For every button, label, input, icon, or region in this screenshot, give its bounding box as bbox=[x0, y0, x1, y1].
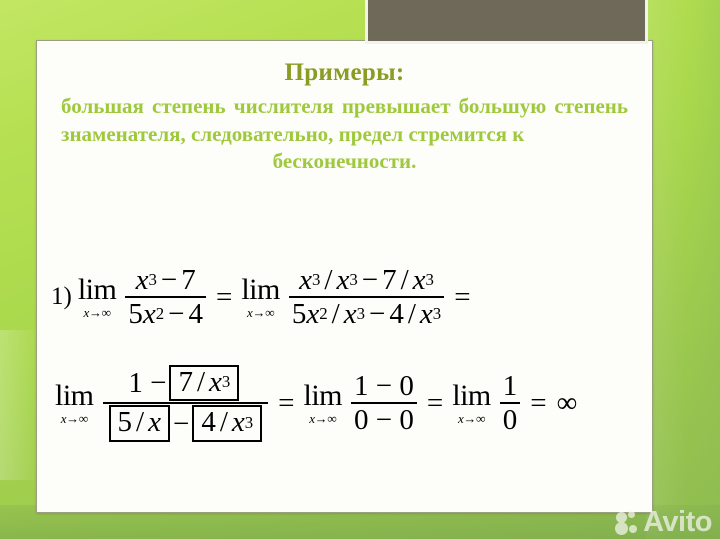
limit-label: lim bbox=[241, 275, 280, 305]
limit-operator-1b: lim x→∞ bbox=[241, 275, 280, 319]
limit-operator-1a: lim x→∞ bbox=[78, 275, 117, 319]
green-frame-sheen-left bbox=[0, 330, 40, 480]
slide-canvas: Примеры: большая степень числителя превы… bbox=[0, 0, 720, 539]
boxed-term-7-over-x3: 7/x3 bbox=[169, 365, 239, 401]
limit-label: lim bbox=[452, 381, 491, 411]
lede-line-main: большая степень числителя превышает боль… bbox=[61, 94, 628, 146]
green-frame-sheen-right bbox=[646, 0, 720, 539]
equals-sign-2: = bbox=[427, 387, 443, 420]
fraction-denominator: 5/x − 4/x3 bbox=[103, 404, 269, 442]
equation-line-2: lim x→∞ 1 − 7/x3 5/x − 4/x3 = bbox=[51, 364, 651, 443]
fraction-denominator: 5x2/x3−4/x3 bbox=[289, 298, 444, 330]
limit-subscript: x→∞ bbox=[247, 306, 274, 319]
boxed-term-5-over-x: 5/x bbox=[109, 405, 170, 441]
fraction-denominator: 5x2−4 bbox=[125, 298, 206, 330]
limit-subscript: x→∞ bbox=[84, 306, 111, 319]
header-plate bbox=[365, 0, 648, 44]
content-card: Примеры: большая степень числителя превы… bbox=[36, 40, 653, 513]
limit-operator-2a: lim x→∞ bbox=[55, 381, 94, 425]
fraction-denominator: 0 bbox=[500, 404, 521, 436]
limit-label: lim bbox=[55, 381, 94, 411]
denominator-operator: − bbox=[173, 409, 189, 439]
fraction-2c: 1 0 bbox=[500, 370, 521, 436]
limit-label: lim bbox=[78, 275, 117, 305]
equation-line-1: 1) lim x→∞ x3−7 5x2−4 = lim x→∞ x3/x3−7/… bbox=[51, 264, 651, 330]
limit-operator-2b: lim x→∞ bbox=[304, 381, 343, 425]
fraction-numerator: x3/x3−7/x3 bbox=[296, 264, 437, 296]
limit-subscript: x→∞ bbox=[309, 412, 336, 425]
limit-label: lim bbox=[304, 381, 343, 411]
fraction-1b: x3/x3−7/x3 5x2/x3−4/x3 bbox=[289, 264, 444, 330]
avito-watermark-text: Avito bbox=[643, 508, 712, 537]
content-card-inner: Примеры: большая степень числителя превы… bbox=[37, 59, 652, 530]
boxed-term-4-over-x3: 4/x3 bbox=[192, 405, 262, 441]
equation-item-number: 1) bbox=[51, 283, 72, 311]
fraction-2a: 1 − 7/x3 5/x − 4/x3 bbox=[103, 364, 269, 443]
limit-result-infinity: ∞ bbox=[557, 387, 578, 420]
numerator-lead-term: 1 − bbox=[128, 368, 166, 398]
lede-paragraph: большая степень числителя превышает боль… bbox=[61, 93, 628, 176]
page-title: Примеры: bbox=[37, 59, 652, 87]
fraction-numerator: 1 − 7/x3 bbox=[125, 364, 245, 402]
equals-sign-1: = bbox=[216, 281, 232, 314]
limit-subscript: x→∞ bbox=[61, 412, 88, 425]
fraction-numerator: 1 bbox=[500, 370, 521, 402]
fraction-1a: x3−7 5x2−4 bbox=[125, 264, 206, 330]
fraction-2b: 1 − 0 0 − 0 bbox=[351, 370, 417, 436]
equals-sign-1: = bbox=[278, 387, 294, 420]
limit-operator-2c: lim x→∞ bbox=[452, 381, 491, 425]
lede-line-final: бесконечности. bbox=[61, 148, 628, 176]
equals-sign-2: = bbox=[454, 281, 470, 314]
fraction-numerator: 1 − 0 bbox=[351, 370, 417, 402]
equals-sign-3: = bbox=[530, 387, 546, 420]
fraction-numerator: x3−7 bbox=[133, 264, 199, 296]
limit-subscript: x→∞ bbox=[458, 412, 485, 425]
fraction-denominator: 0 − 0 bbox=[351, 404, 417, 436]
